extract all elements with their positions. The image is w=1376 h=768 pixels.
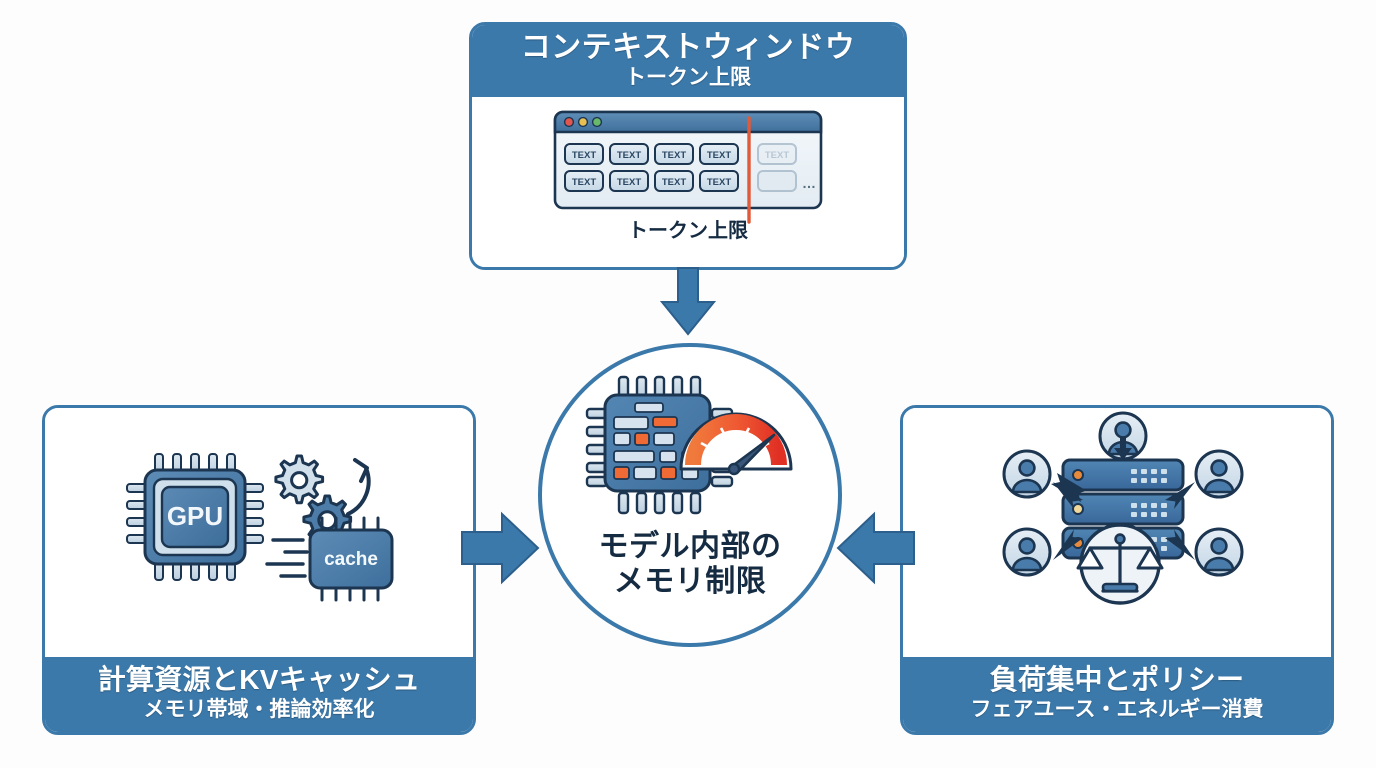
arrow-top-to-center [652, 268, 724, 344]
diagram-canvas: コンテキストウィンドウ トークン上限 [0, 0, 1376, 768]
svg-text:TEXT: TEXT [617, 150, 641, 161]
compute-cache-card-footer: 計算資源とKVキャッシュ メモリ帯域・推論効率化 [45, 657, 473, 732]
cache-chip-label: cache [324, 549, 378, 570]
compute-cache-illustration: GPU [45, 408, 473, 657]
svg-text:TEXT: TEXT [572, 177, 596, 188]
scales-icon [1078, 525, 1162, 603]
center-node[interactable]: モデル内部の メモリ制限 [538, 343, 842, 647]
svg-text:TEXT: TEXT [662, 177, 686, 188]
svg-text:TEXT: TEXT [765, 150, 789, 161]
svg-text:TEXT: TEXT [572, 150, 596, 161]
arrow-right-to-center [832, 508, 914, 588]
gpu-chip-label: GPU [167, 501, 223, 531]
context-window-card[interactable]: コンテキストウィンドウ トークン上限 [469, 22, 907, 270]
svg-text:TEXT: TEXT [707, 150, 731, 161]
center-node-label-line1: モデル内部の [599, 529, 782, 564]
center-node-label-line2: メモリ制限 [599, 564, 782, 599]
chip-gauge-graphic [583, 373, 798, 523]
compute-cache-title: 計算資源とKVキャッシュ [51, 664, 467, 696]
compute-cache-subtitle: メモリ帯域・推論効率化 [51, 698, 467, 722]
overflow-ellipsis: … [802, 175, 816, 191]
user-avatar-icon [1196, 451, 1242, 497]
window-dots [565, 118, 602, 127]
gear-icon [276, 456, 323, 503]
load-policy-card[interactable]: 負荷集中とポリシー フェアユース・エネルギー消費 [900, 405, 1334, 735]
user-avatar-icon [1004, 451, 1050, 497]
gpu-cache-graphic: GPU [45, 408, 476, 630]
context-window-title: コンテキストウィンドウ [480, 31, 896, 65]
load-policy-illustration [903, 408, 1331, 657]
svg-text:TEXT: TEXT [707, 177, 731, 188]
speed-lines-icon [267, 540, 307, 576]
refresh-arrow-icon [348, 460, 369, 514]
gpu-chip-icon: GPU [127, 454, 263, 580]
context-window-card-header: コンテキストウィンドウ トークン上限 [472, 25, 904, 97]
server-users-graphic [903, 408, 1334, 630]
cache-chip-icon: cache [310, 518, 392, 600]
context-window-subtitle: トークン上限 [480, 66, 896, 90]
svg-text:TEXT: TEXT [617, 177, 641, 188]
user-avatar-icon [1004, 529, 1050, 575]
load-policy-card-footer: 負荷集中とポリシー フェアユース・エネルギー消費 [903, 657, 1331, 732]
load-policy-title: 負荷集中とポリシー [909, 664, 1325, 696]
user-avatar-icon [1196, 529, 1242, 575]
center-node-label: モデル内部の メモリ制限 [599, 529, 782, 600]
arrow-left-to-center [462, 508, 544, 588]
token-limit-caption: トークン上限 [628, 214, 748, 243]
compute-cache-card[interactable]: GPU [42, 405, 476, 735]
load-policy-subtitle: フェアユース・エネルギー消費 [909, 698, 1325, 722]
svg-text:TEXT: TEXT [662, 150, 686, 161]
context-window-illustration: TEXT TEXT TEXT TEXT TEXT TEXT TEXT TEXT [472, 97, 904, 267]
token-window-mockup: TEXT TEXT TEXT TEXT TEXT TEXT TEXT TEXT [553, 110, 823, 210]
